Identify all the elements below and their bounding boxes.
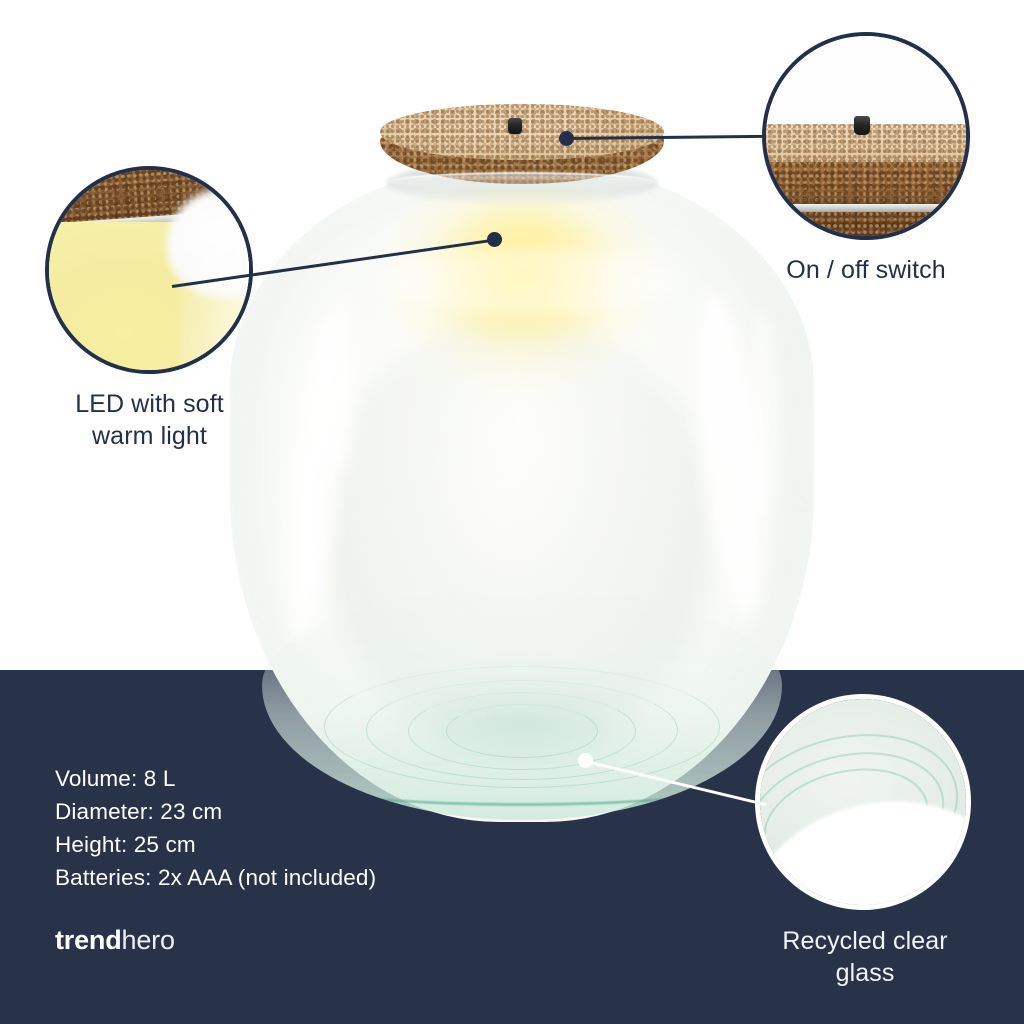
callout-circle-led	[45, 166, 253, 374]
cork-lid-top	[380, 104, 664, 160]
callout-circle-switch	[762, 32, 970, 240]
cork-lid-side-zoom	[762, 162, 970, 206]
callout-label-glass-line2: glass	[738, 957, 992, 989]
callout-label-glass-line1: Recycled clear	[738, 925, 992, 957]
cork-texture	[762, 212, 970, 240]
brand-logo-bold: trend	[55, 925, 122, 955]
callout-label-led-line2: warm light	[32, 420, 267, 452]
brand-logo[interactable]: trendhero	[55, 925, 175, 956]
switch-zoom-background	[766, 36, 966, 128]
cork-texture	[762, 162, 970, 206]
jar-highlight-right-2	[750, 312, 776, 522]
cork-texture	[380, 104, 664, 160]
power-switch-button[interactable]	[508, 118, 522, 134]
power-switch-button-zoom[interactable]	[854, 116, 870, 135]
callout-label-switch: On / off switch	[742, 254, 990, 286]
callout-label-led-line1: LED with soft	[32, 388, 267, 420]
leader-dot-switch	[559, 131, 574, 146]
spec-diameter: Diameter: 23 cm	[55, 795, 575, 828]
cork-lid-underside	[762, 212, 970, 240]
spec-volume: Volume: 8 L	[55, 762, 575, 795]
leader-dot-glass	[578, 753, 593, 768]
callout-label-glass: Recycled clear glass	[738, 925, 992, 989]
cork-lid	[372, 100, 672, 205]
brand-logo-light: hero	[122, 925, 175, 955]
glass-zoom-content	[760, 699, 966, 905]
callout-circle-glass	[755, 694, 971, 910]
callout-label-led: LED with soft warm light	[32, 388, 267, 452]
product-specs-list: Volume: 8 L Diameter: 23 cm Height: 25 c…	[55, 762, 575, 894]
spec-height: Height: 25 cm	[55, 828, 575, 861]
leader-dot-led	[487, 232, 502, 247]
callout-label-switch-line1: On / off switch	[742, 254, 990, 286]
led-zoom-content	[49, 170, 249, 370]
jar-rim-line	[390, 172, 654, 192]
spec-batteries: Batteries: 2x AAA (not included)	[55, 861, 575, 894]
infographic-canvas: LED with soft warm light On / off switch	[0, 0, 1024, 1024]
jar-highlight-top	[380, 248, 680, 314]
product-jar-image	[222, 100, 822, 830]
glass-ring	[446, 704, 598, 758]
led-edge-fade	[179, 210, 253, 374]
